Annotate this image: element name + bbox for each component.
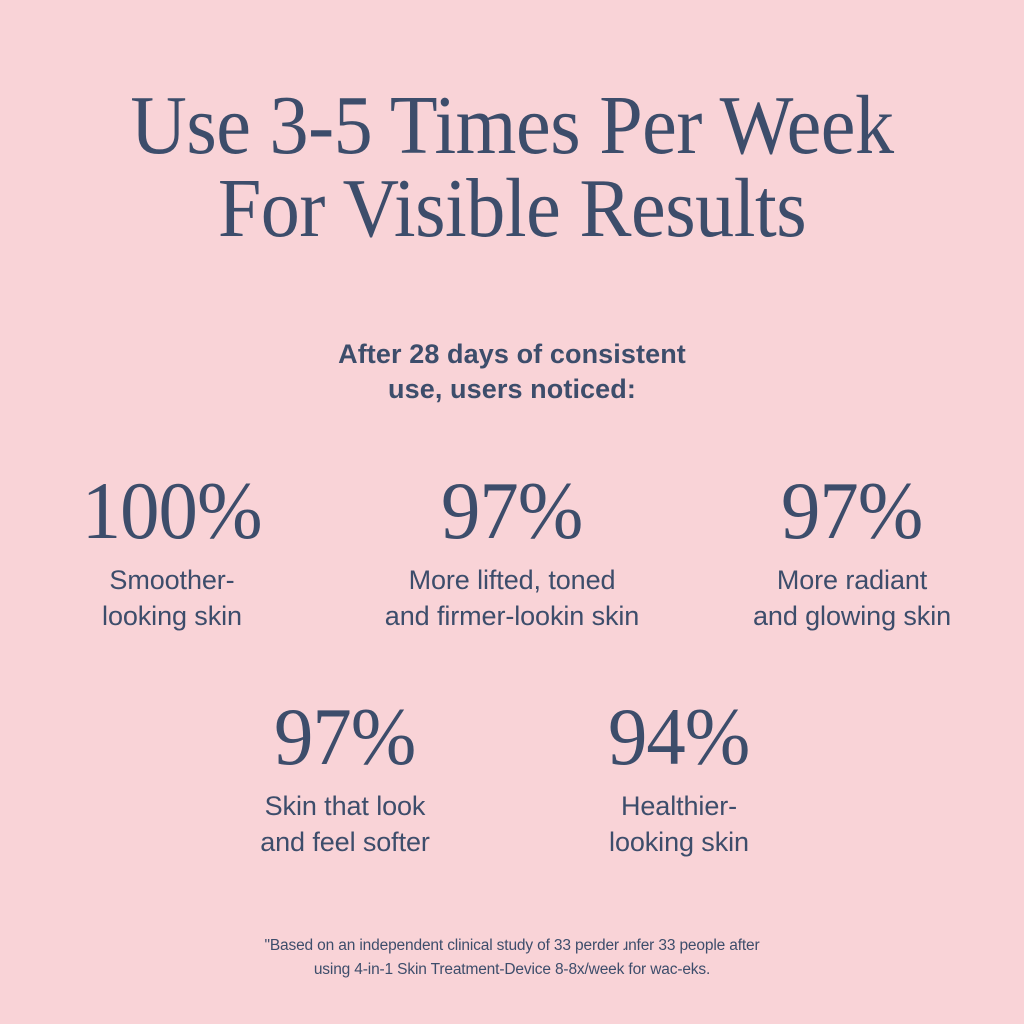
stats-section: 100% Smoother- looking skin 97% More lif…	[0, 470, 1024, 861]
stat-value: 97%	[441, 470, 582, 552]
headline-line-2: For Visible Results	[94, 167, 931, 250]
stat-label: Healthier- looking skin	[609, 788, 749, 860]
stat-item: 97% More lifted, toned and firmer-lookin…	[362, 470, 662, 634]
stat-item: 97% Skin that look and feel softer	[205, 696, 485, 860]
stat-item: 100% Smoother- looking skin	[22, 470, 322, 634]
stat-label: Smoother- looking skin	[102, 562, 242, 634]
page-title: Use 3-5 Times Per Week For Visible Resul…	[94, 84, 931, 250]
promo-poster: Use 3-5 Times Per Week For Visible Resul…	[0, 0, 1024, 1024]
subtitle-line-1: After 28 days of consistent	[232, 337, 792, 373]
stat-label: More radiant and glowing skin	[753, 562, 951, 634]
stat-label: More lifted, toned and firmer-lookin ski…	[385, 562, 639, 634]
disclaimer-footnote: "Based on an independent clinical study …	[0, 934, 1024, 982]
stat-item: 94% Healthier- looking skin	[539, 696, 819, 860]
stat-value: 100%	[82, 470, 262, 552]
stats-row-primary: 100% Smoother- looking skin 97% More lif…	[0, 470, 1024, 634]
stat-value: 97%	[781, 470, 922, 552]
stats-row-secondary: 97% Skin that look and feel softer 94% H…	[0, 696, 1024, 860]
stat-value: 94%	[608, 696, 749, 778]
footnote-line-1: "Based on an independent clinical study …	[0, 934, 1024, 958]
headline-line-1: Use 3-5 Times Per Week	[94, 84, 931, 167]
stat-item: 97% More radiant and glowing skin	[702, 470, 1002, 634]
stat-value: 97%	[274, 696, 415, 778]
stat-label: Skin that look and feel softer	[260, 788, 430, 860]
subtitle-line-2: use, users noticed:	[232, 372, 792, 408]
subtitle: After 28 days of consistent use, users n…	[232, 337, 792, 408]
footnote-line-2: using 4-in-1 Skin Treatment-Device 8-8x/…	[0, 958, 1024, 982]
